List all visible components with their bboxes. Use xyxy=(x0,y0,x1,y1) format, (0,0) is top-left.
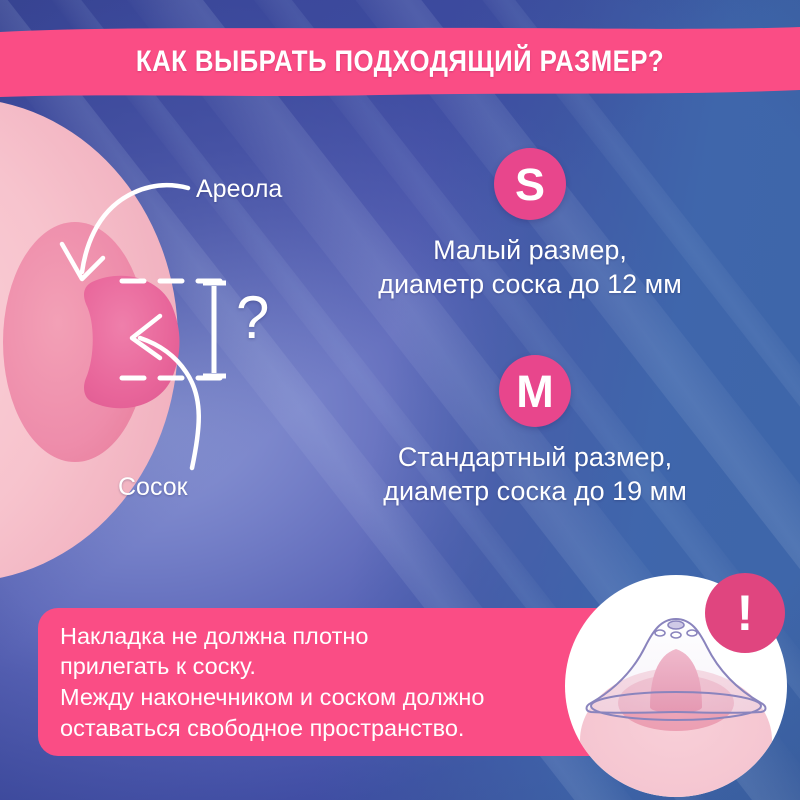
nipple-shape xyxy=(84,276,180,409)
size-description-s: Малый размер, диаметр соска до 12 мм xyxy=(330,233,730,301)
size-badge-s: S xyxy=(494,148,566,220)
label-areola: Ареола xyxy=(196,175,282,204)
size-badge-m: M xyxy=(499,355,571,427)
size-block-m: M Стандартный размер, диаметр соска до 1… xyxy=(305,355,765,508)
page-title: КАК ВЫБРАТЬ ПОДХОДЯЩИЙ РАЗМЕР? xyxy=(56,26,744,98)
infographic-page: Ареола Сосок ? КАК ВЫБРАТЬ ПОДХОДЯЩИЙ РА… xyxy=(0,0,800,800)
size-description-m: Стандартный размер, диаметр соска до 19 … xyxy=(305,440,765,508)
note-text: Накладка не должна плотно прилегать к со… xyxy=(38,621,484,743)
label-nipple: Сосок xyxy=(118,473,188,502)
question-mark: ? xyxy=(236,288,269,348)
size-block-s: S Малый размер, диаметр соска до 12 мм xyxy=(330,148,730,301)
exclamation-badge-icon: ! xyxy=(705,573,785,653)
